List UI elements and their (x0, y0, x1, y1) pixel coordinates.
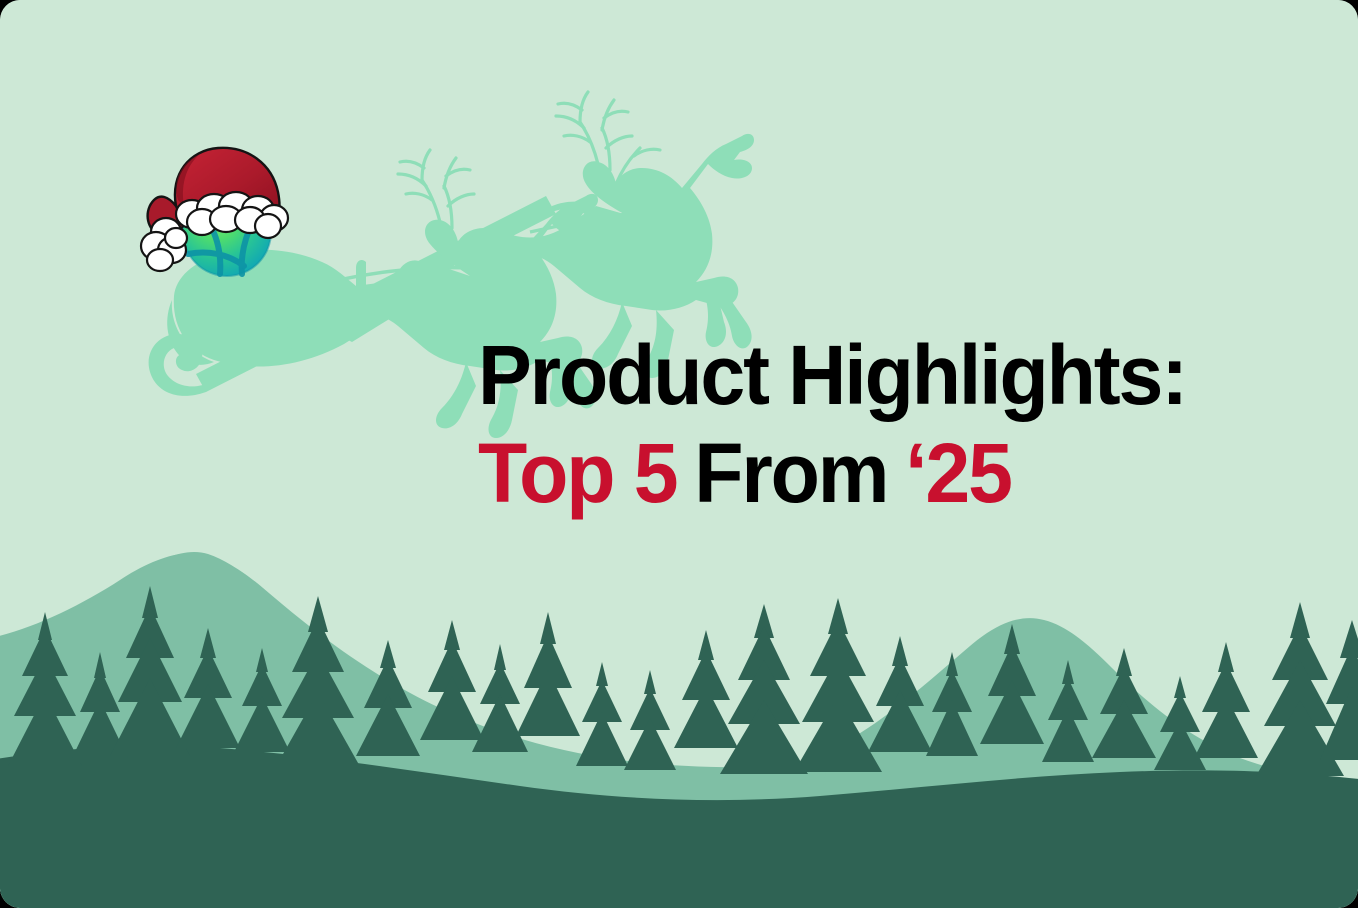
holiday-announcement-card: Product Highlights: Top 5From‘25 (0, 0, 1358, 908)
page-title-line-2: Top 5From‘25 (478, 424, 1284, 522)
title-block: Product Highlights: Top 5From‘25 (478, 326, 1318, 522)
title-top5: Top 5 (478, 426, 676, 520)
page-title-line-1: Product Highlights: (478, 326, 1284, 424)
title-year: ‘25 (905, 426, 1011, 520)
title-from: From (694, 426, 887, 520)
